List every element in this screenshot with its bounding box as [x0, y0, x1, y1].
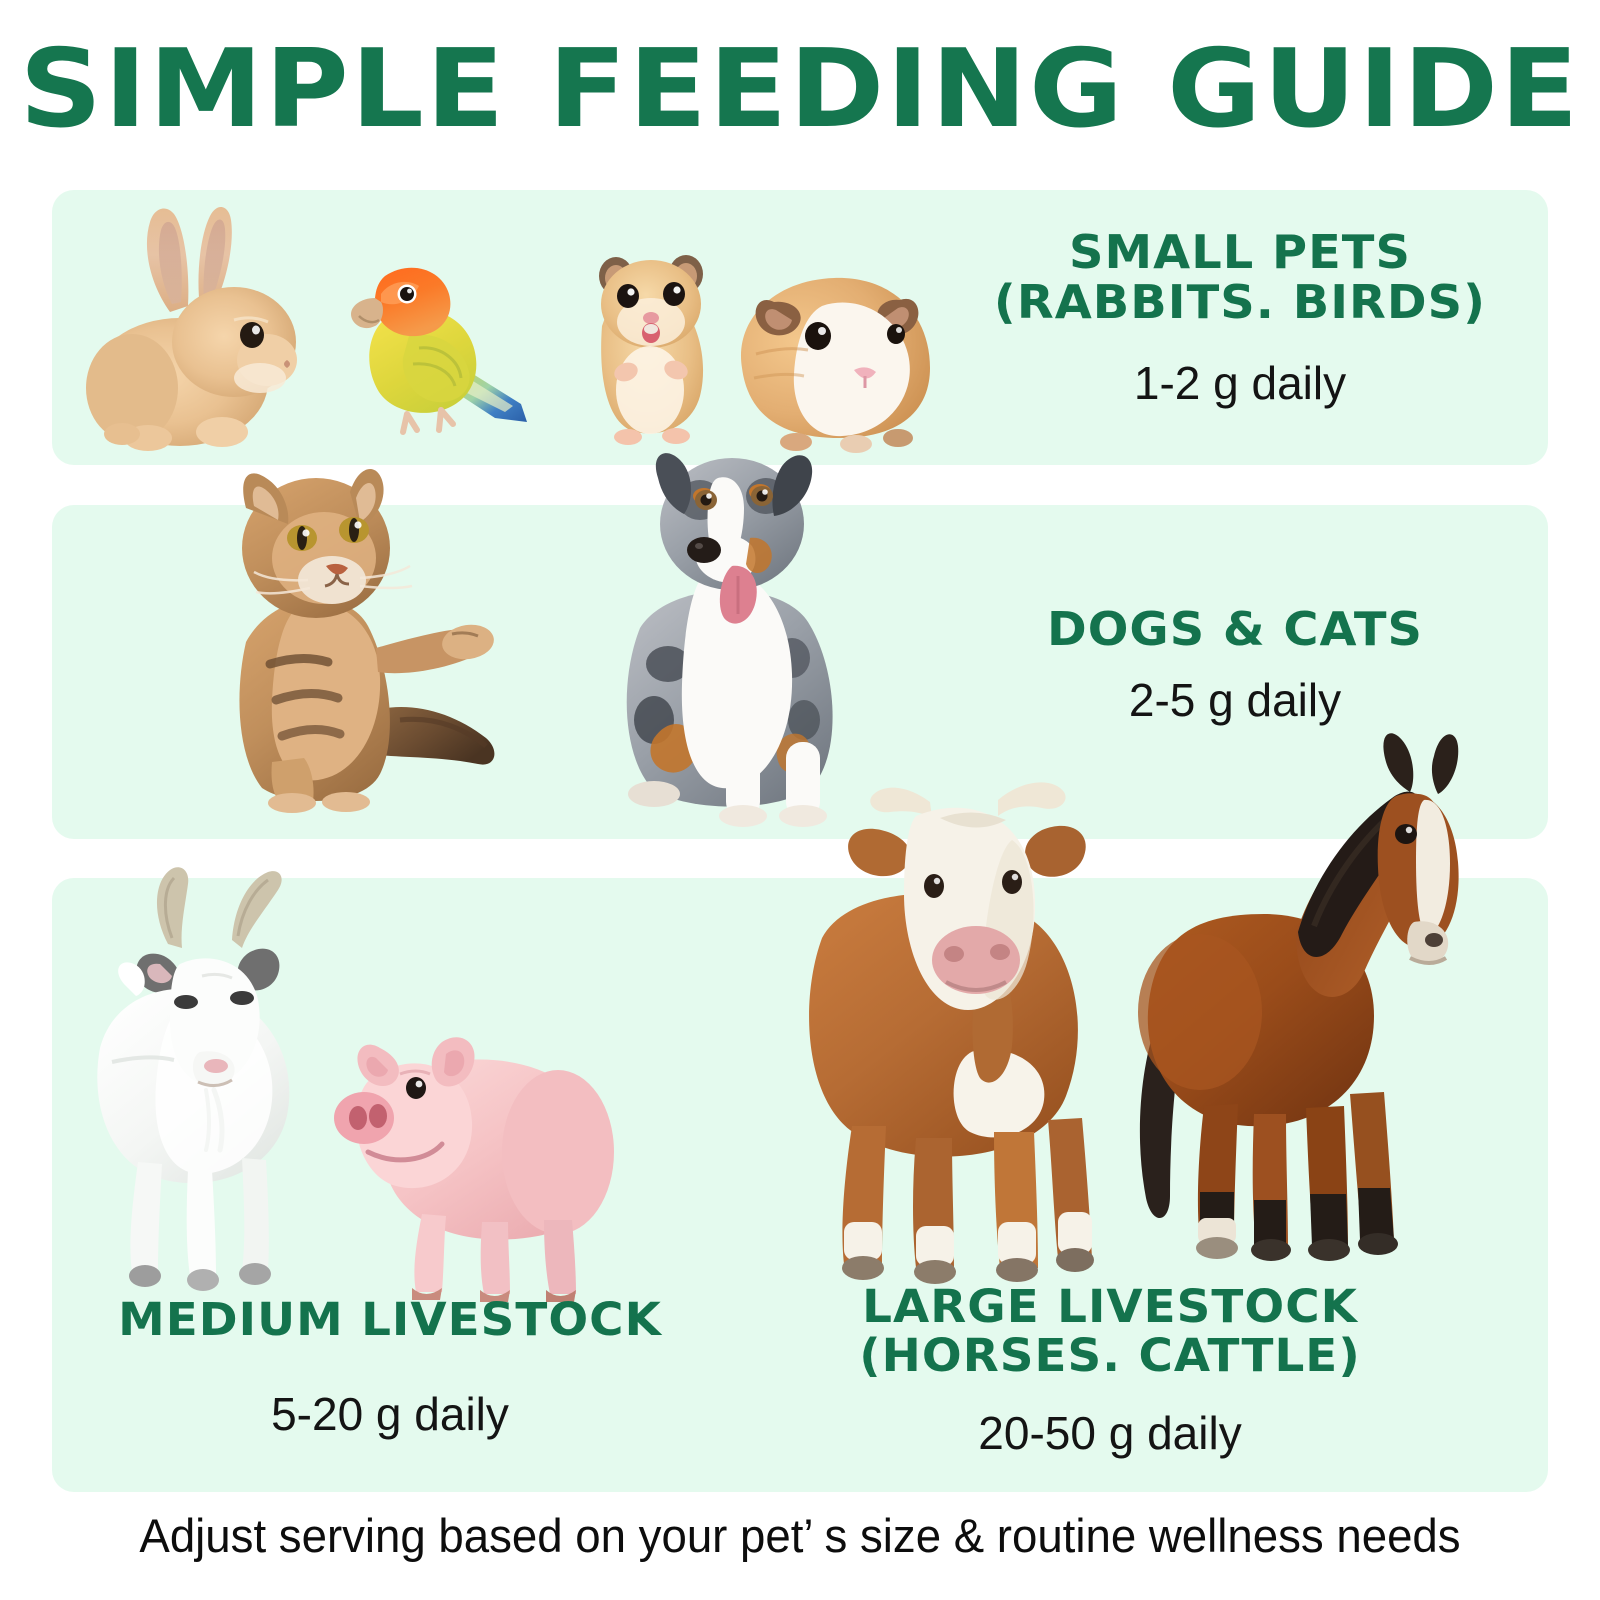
page-title: SIMPLE FEEDING GUIDE [0, 36, 1600, 144]
cow-illustration [790, 760, 1120, 1290]
dogs-cats-dose: 2-5 g daily [1000, 673, 1470, 727]
pig-illustration [330, 982, 610, 1302]
small-pets-dose: 1-2 g daily [940, 356, 1540, 410]
cat-illustration [200, 462, 510, 810]
large-livestock-dose: 20-50 g daily [810, 1406, 1410, 1460]
hamster-illustration [580, 240, 725, 450]
large-livestock-label-line2: (HORSES. CATTLE) [859, 1329, 1361, 1382]
small-pets-label: SMALL PETS (RABBITS. BIRDS) [928, 228, 1552, 327]
medium-livestock-label: MEDIUM LIVESTOCK [47, 1296, 733, 1345]
lovebird-illustration [345, 246, 530, 446]
small-pets-label-line1: SMALL PETS [1069, 225, 1411, 279]
large-livestock-label: LARGE LIVESTOCK (HORSES. CATTLE) [798, 1283, 1422, 1380]
footer-note: Adjust serving based on your pet’ s size… [24, 1508, 1576, 1563]
horse-illustration [1128, 722, 1478, 1272]
large-livestock-label-line1: LARGE LIVESTOCK [862, 1280, 1358, 1333]
guinea-pig-illustration [730, 258, 940, 453]
medium-livestock-dose: 5-20 g daily [60, 1387, 720, 1441]
goat-illustration [82, 852, 352, 1292]
small-pets-label-line2: (RABBITS. BIRDS) [994, 275, 1486, 329]
rabbit-illustration [84, 192, 314, 457]
dogs-cats-label: DOGS & CATS [991, 605, 1480, 655]
